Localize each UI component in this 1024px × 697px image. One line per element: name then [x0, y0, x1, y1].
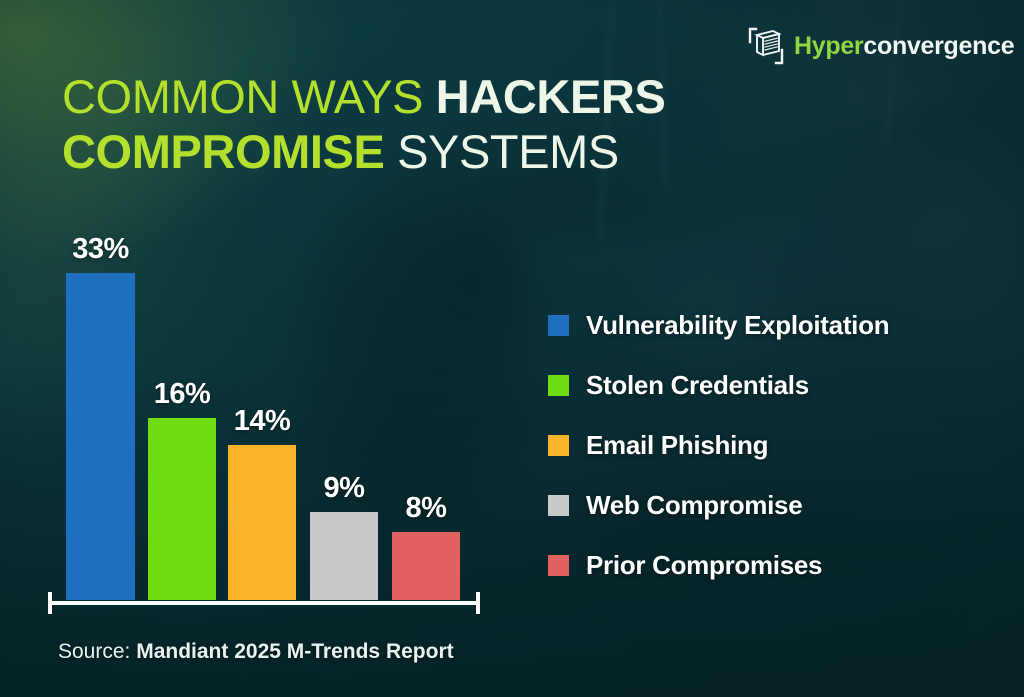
axis-baseline [48, 601, 480, 605]
legend-item-prior-compromises[interactable]: Prior Compromises [548, 552, 889, 578]
bar-column-prior-compromises[interactable]: 8% [392, 215, 460, 600]
page-title-segment-compromise: COMPROMISE [62, 125, 384, 178]
bar-value-label: 33% [72, 235, 129, 264]
bar-value-label: 14% [234, 407, 291, 436]
brand-logo-text: Hyperconvergence [794, 34, 1014, 59]
bar-rect-green[interactable] [148, 418, 216, 600]
legend-swatch-gray [548, 495, 569, 516]
legend-label: Web Compromise [586, 492, 802, 518]
chart-legend: Vulnerability Exploitation Stolen Creden… [548, 312, 889, 578]
page-title: COMMON WAYS HACKERS COMPROMISE SYSTEMS [62, 70, 802, 180]
legend-swatch-blue [548, 315, 569, 336]
brand-logo-word-hyper: Hyper [794, 32, 863, 60]
legend-label: Vulnerability Exploitation [586, 312, 889, 338]
server-stack-icon [748, 26, 784, 66]
bar-chart-plot-area: 33% 16% 14% 9% 8% [48, 215, 488, 600]
page-title-line-1: COMMON WAYS HACKERS [62, 70, 802, 125]
brand-logo-word-convergence: convergence [863, 32, 1014, 60]
legend-label: Prior Compromises [586, 552, 822, 578]
bar-column-stolen-credentials[interactable]: 16% [148, 215, 216, 600]
legend-item-web-compromise[interactable]: Web Compromise [548, 492, 889, 518]
bar-value-label: 8% [406, 494, 447, 523]
legend-swatch-green [548, 375, 569, 396]
legend-label: Email Phishing [586, 432, 768, 458]
brand-logo[interactable]: Hyperconvergence [748, 26, 1014, 66]
bar-value-label: 16% [154, 380, 211, 409]
legend-item-email-phishing[interactable]: Email Phishing [548, 432, 889, 458]
page-title-segment-hackers: HACKERS [436, 70, 666, 123]
page-title-segment-systems: SYSTEMS [384, 125, 618, 178]
legend-label: Stolen Credentials [586, 372, 809, 398]
bar-column-web-compromise[interactable]: 9% [310, 215, 378, 600]
infographic-canvas: Hyperconvergence COMMON WAYS HACKERS COM… [0, 0, 1024, 697]
bar-rect-orange[interactable] [228, 445, 296, 600]
chart-x-axis [48, 592, 480, 614]
legend-swatch-red [548, 555, 569, 576]
bar-chart: 33% 16% 14% 9% 8% [48, 215, 488, 600]
bar-column-vulnerability-exploitation[interactable]: 33% [66, 215, 135, 600]
legend-item-stolen-credentials[interactable]: Stolen Credentials [548, 372, 889, 398]
source-value: Mandiant 2025 M-Trends Report [136, 640, 453, 663]
page-title-segment-common-ways: COMMON WAYS [62, 70, 436, 123]
source-prefix: Source: [58, 640, 136, 663]
source-credit: Source: Mandiant 2025 M-Trends Report [58, 641, 454, 662]
bar-rect-red[interactable] [392, 532, 460, 600]
legend-swatch-orange [548, 435, 569, 456]
bar-value-label: 9% [324, 474, 365, 503]
bar-rect-gray[interactable] [310, 512, 378, 600]
legend-item-vulnerability-exploitation[interactable]: Vulnerability Exploitation [548, 312, 889, 338]
axis-end-cap-right [476, 592, 480, 614]
content-layer: Hyperconvergence COMMON WAYS HACKERS COM… [0, 0, 1024, 697]
bar-rect-blue[interactable] [66, 273, 135, 600]
bar-column-email-phishing[interactable]: 14% [228, 215, 296, 600]
page-title-line-2: COMPROMISE SYSTEMS [62, 125, 802, 180]
